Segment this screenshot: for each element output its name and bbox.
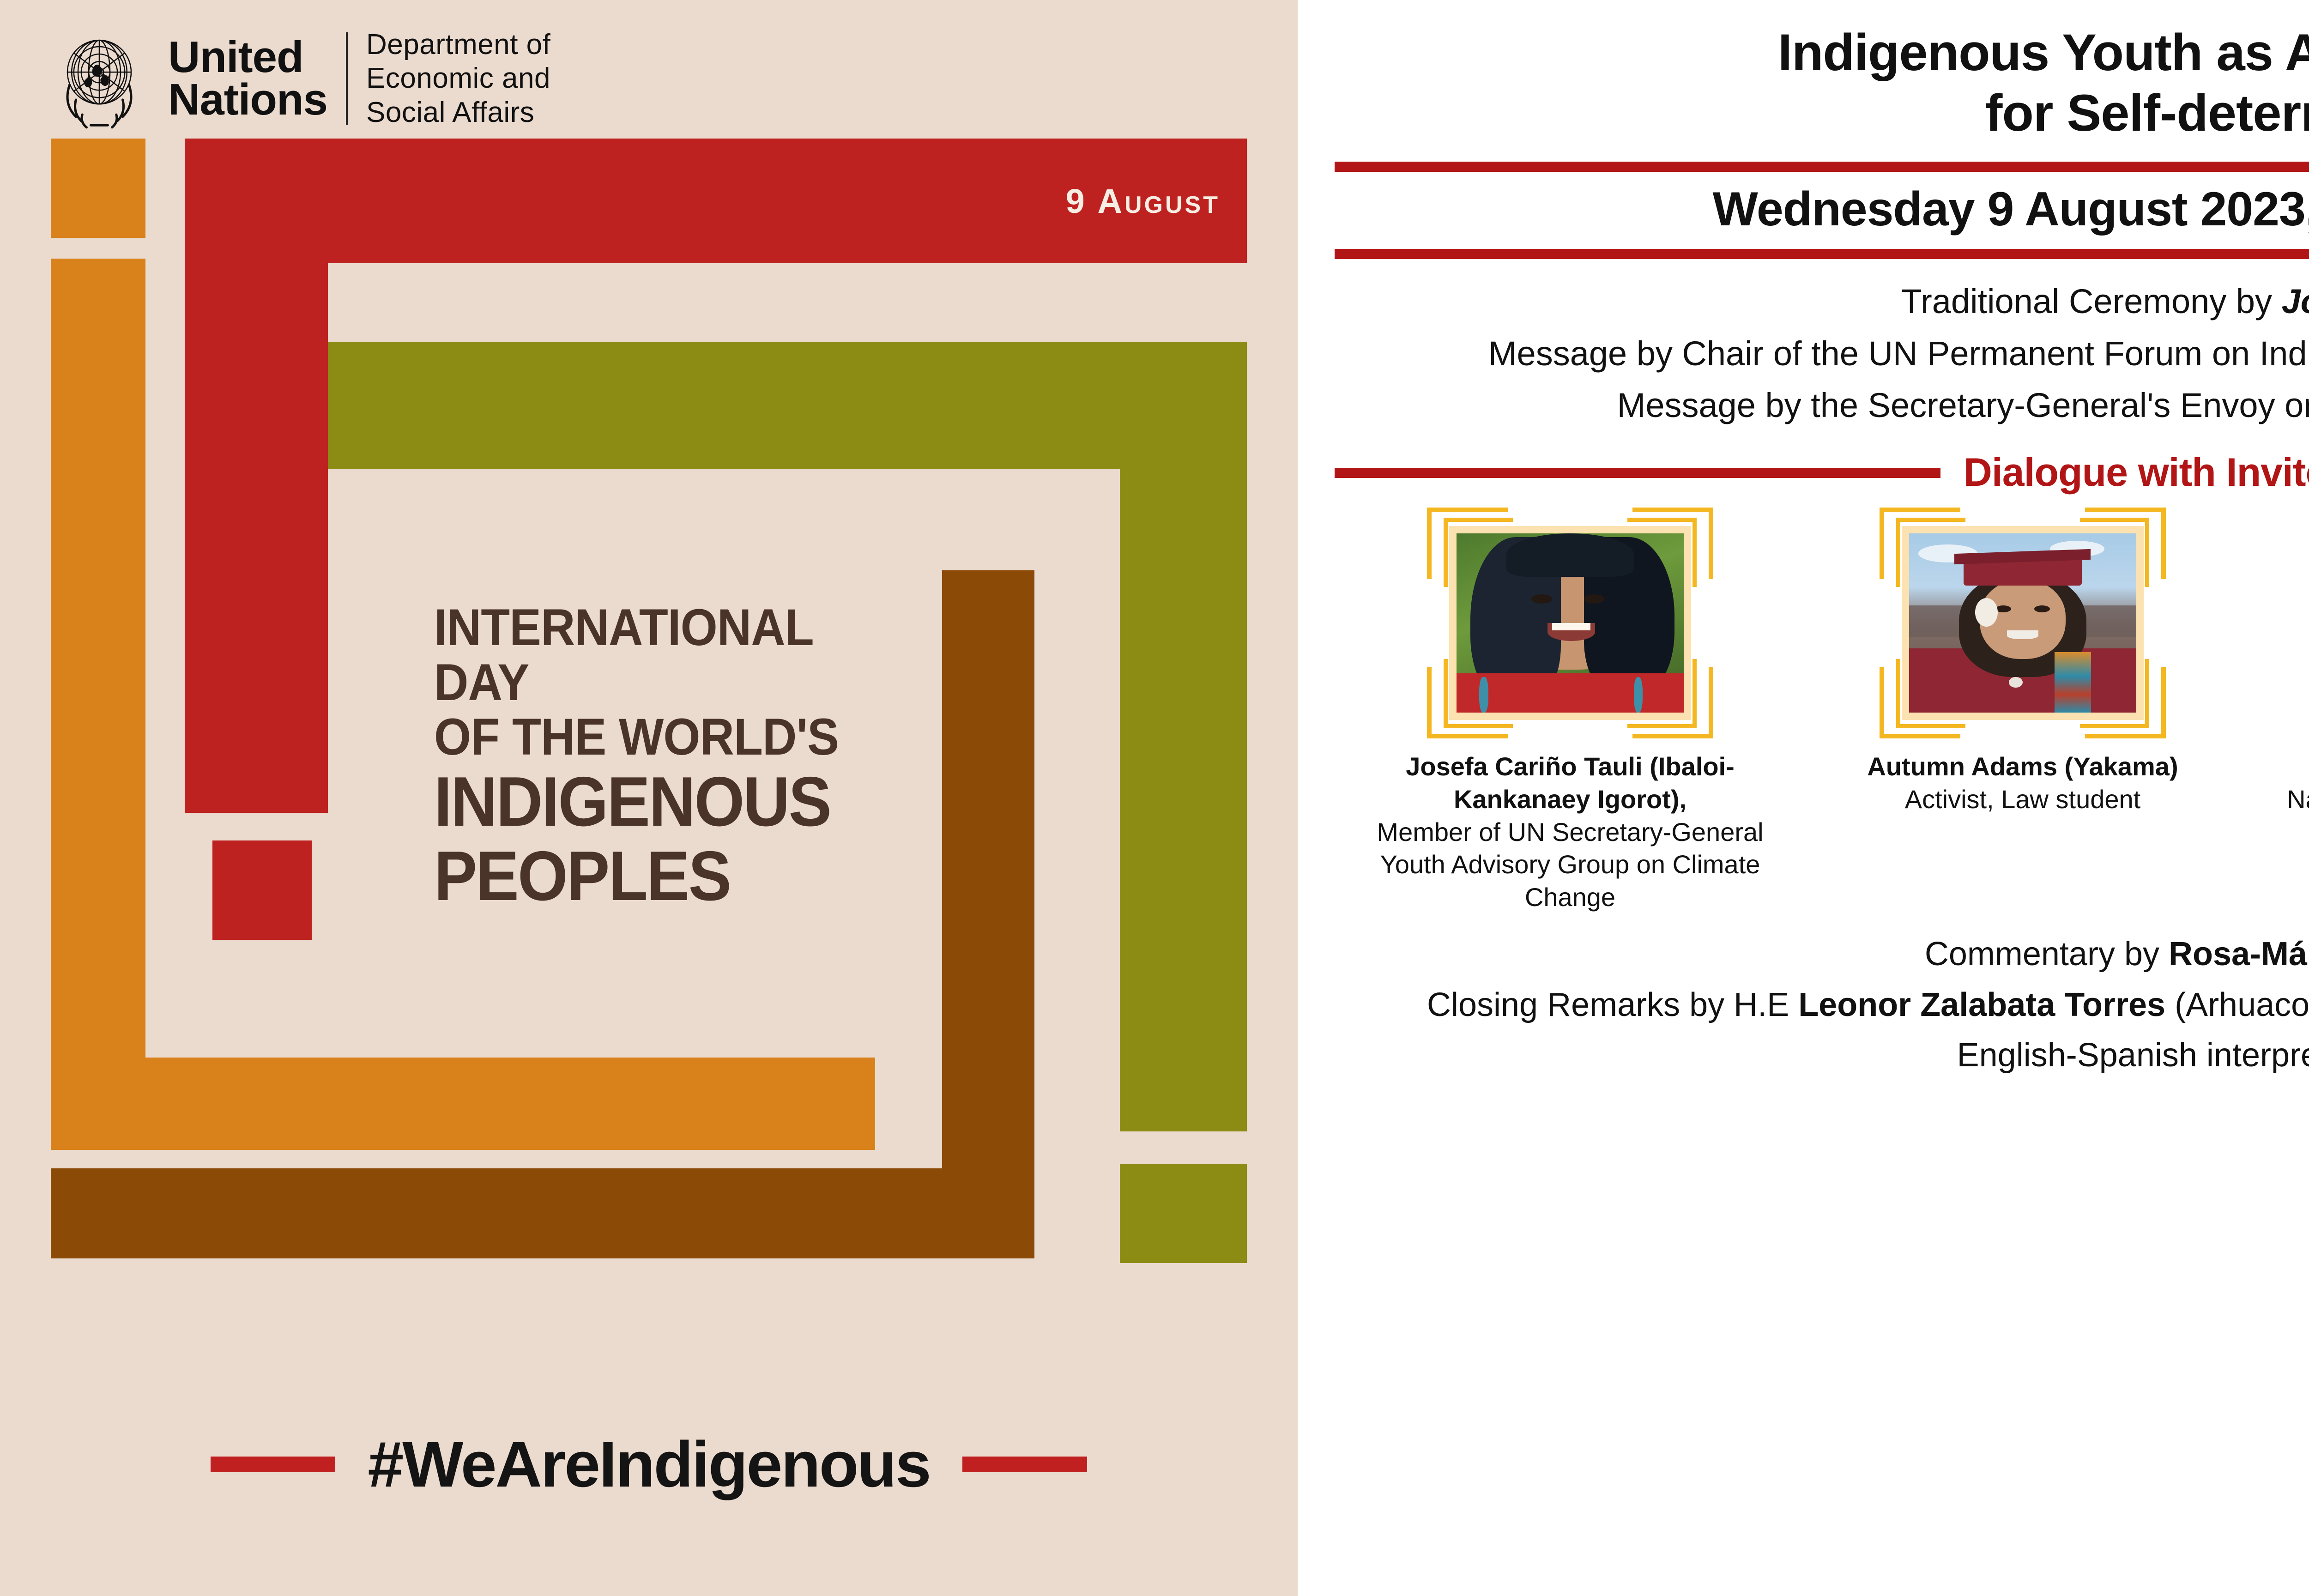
orange-horizontal (51, 1058, 875, 1150)
olive-square (1120, 1164, 1247, 1263)
footer-prefix: Closing Remarks by H.E (1427, 986, 1798, 1023)
olive-vertical (1120, 342, 1247, 1131)
program-prefix: Traditional Ceremony by (1901, 282, 2282, 320)
artwork-title-line4: Peoples (434, 839, 901, 913)
dash-left (211, 1457, 335, 1472)
orange-vertical (51, 259, 145, 1150)
corner-bracket-bl (1880, 667, 1884, 738)
corner-bracket-bl (1427, 734, 1508, 738)
corner-bracket-br (1632, 734, 1713, 738)
footer-name: Rosa-Máren Juuso (2169, 936, 2309, 973)
corner-bracket-bl (1896, 724, 1965, 728)
rule-below-date (1335, 249, 2309, 259)
footer-prefix: English-Spanish interpretation available (1957, 1037, 2309, 1074)
footer-item: Commentary by Rosa-Máren Juuso (Sámi) (1325, 929, 2309, 979)
footer-prefix: Commentary by (1925, 936, 2169, 973)
red-vertical (185, 263, 328, 813)
corner-bracket-tr (1692, 518, 1697, 587)
event-date: Wednesday 9 August 2023, 9am EST (New Yo… (1335, 172, 2309, 249)
program-speaker-name: Joe Baker (Lenape) (2282, 282, 2309, 320)
photo-mat (1449, 526, 1691, 720)
corner-bracket-bl (1427, 667, 1432, 738)
date-badge-label: 9 August (1066, 181, 1220, 221)
artwork-title-line1: International Day (434, 598, 813, 711)
corner-bracket-tl (1427, 508, 1432, 579)
un-wordmark: United Nations (168, 36, 327, 121)
portrait-josefa-carino-tauli (1457, 533, 1684, 713)
corner-bracket-tl (1896, 518, 1900, 587)
event-date-block: Wednesday 9 August 2023, 9am EST (New Yo… (1335, 162, 2309, 259)
un-emblem-icon (46, 25, 152, 132)
campaign-hashtag: #WeAreIndigenous (368, 1427, 930, 1502)
red-top-bar: 9 August (185, 139, 1247, 263)
program-item: Message by Chair of the UN Permanent For… (1325, 328, 2309, 380)
program-item: Message by the Secretary-General's Envoy… (1325, 380, 2309, 431)
footer-name: Leonor Zalabata Torres (1798, 986, 2165, 1023)
photo-frame (1880, 508, 2166, 738)
corner-bracket-tr (2085, 508, 2166, 512)
speakers-grid: Josefa Cariño Tauli (Ibaloi-Kankanaey Ig… (1325, 508, 2309, 913)
dialogue-rule-left (1335, 468, 1940, 478)
corner-bracket-tl (1444, 518, 1513, 522)
corner-bracket-br (1692, 659, 1697, 728)
photo-frame (1427, 508, 1713, 738)
speaker-name: Luis Acosta (Nasa) (2258, 750, 2309, 783)
speaker-card: Josefa Cariño Tauli (Ibaloi-Kankanaey Ig… (1353, 508, 1787, 913)
dash-right (962, 1457, 1087, 1472)
rule-above-date (1335, 162, 2309, 172)
event-flyer: United Nations Department of Economic an… (0, 0, 2309, 1596)
speaker-role: Activist, Law student (1806, 783, 2240, 816)
olive-horizontal (328, 342, 1247, 469)
left-artwork-panel: United Nations Department of Economic an… (0, 0, 1298, 1596)
corner-bracket-tl (1444, 518, 1448, 587)
corner-bracket-br (2080, 724, 2149, 728)
footer-item: English-Spanish interpretation available (1325, 1030, 2309, 1081)
brown-vertical (942, 570, 1034, 1258)
corner-bracket-br (2085, 734, 2166, 738)
corner-bracket-tr (1709, 508, 1713, 579)
orange-square (51, 139, 145, 238)
un-desa-logo: United Nations Department of Economic an… (46, 18, 550, 139)
department-name: Department of Economic and Social Affair… (366, 28, 550, 129)
corner-bracket-br (1709, 667, 1713, 738)
program-list: Traditional Ceremony by Joe Baker (Lenap… (1325, 276, 2309, 431)
speaker-caption: Josefa Cariño Tauli (Ibaloi-Kankanaey Ig… (1353, 750, 1787, 913)
artwork-title: International Day of the World's Indigen… (434, 600, 901, 913)
corner-bracket-bl (1880, 734, 1960, 738)
corner-bracket-tl (1427, 508, 1508, 512)
corner-bracket-bl (1896, 659, 1900, 728)
artwork-title-line3: Indigenous (434, 765, 901, 839)
corner-bracket-tr (2080, 518, 2149, 522)
speaker-caption: Autumn Adams (Yakama) Activist, Law stud… (1806, 750, 2240, 816)
program-prefix: Message by the Secretary-General's Envoy… (1617, 386, 2309, 424)
brown-horizontal (143, 1168, 1034, 1258)
program-prefix: Message by Chair of the UN Permanent For… (1488, 334, 2309, 373)
footer-notes: Commentary by Rosa-Máren Juuso (Sámi) Cl… (1325, 929, 2309, 1081)
program-item: Traditional Ceremony by Joe Baker (Lenap… (1325, 276, 2309, 327)
right-content-panel: Indigenous Youth as Agents of Change for… (1298, 0, 2309, 1596)
artwork-title-line2: of the World's (434, 708, 839, 766)
brown-square (51, 1168, 143, 1258)
corner-bracket-tr (2145, 518, 2149, 587)
speaker-card: Autumn Adams (Yakama) Activist, Law stud… (1806, 508, 2240, 816)
corner-bracket-tr (2161, 508, 2166, 579)
hashtag-row: #WeAreIndigenous (0, 1427, 1298, 1502)
photo-mat (1902, 526, 2144, 720)
corner-bracket-tl (1880, 508, 1960, 512)
corner-bracket-tl (1880, 508, 1884, 579)
speaker-role: National Coordinator, Indigenous Guard, … (2258, 783, 2309, 848)
speaker-card: Luis Acosta (Nasa) National Coordinator,… (2258, 508, 2309, 848)
corner-bracket-tl (1896, 518, 1965, 522)
speaker-name: Josefa Cariño Tauli (Ibaloi-Kankanaey Ig… (1353, 750, 1787, 816)
corner-bracket-br (2161, 667, 2166, 738)
corner-bracket-tr (1627, 518, 1697, 522)
event-title: Indigenous Youth as Agents of Change for… (1778, 22, 2309, 143)
corner-bracket-bl (1444, 659, 1448, 728)
footer-suffix: (Arhuaco), Permanent Representative of C… (2165, 986, 2309, 1023)
speaker-name: Autumn Adams (Yakama) (1806, 750, 2240, 783)
dialogue-heading: Dialogue with Invited Speakers (1964, 450, 2309, 496)
logo-divider (346, 32, 348, 125)
corner-bracket-tr (1632, 508, 1713, 512)
corner-bracket-br (1627, 724, 1697, 728)
portrait-autumn-adams (1909, 533, 2136, 713)
speaker-role: Member of UN Secretary-General Youth Adv… (1353, 816, 1787, 914)
corner-bracket-bl (1444, 724, 1513, 728)
dialogue-heading-row: Dialogue with Invited Speakers (1335, 450, 2309, 496)
footer-item: Closing Remarks by H.E Leonor Zalabata T… (1325, 980, 2309, 1030)
red-small-square (212, 840, 312, 940)
speaker-caption: Luis Acosta (Nasa) National Coordinator,… (2258, 750, 2309, 848)
indigenous-day-artwork: 9 August International Day of the World'… (51, 139, 1247, 1404)
corner-bracket-br (2145, 659, 2149, 728)
